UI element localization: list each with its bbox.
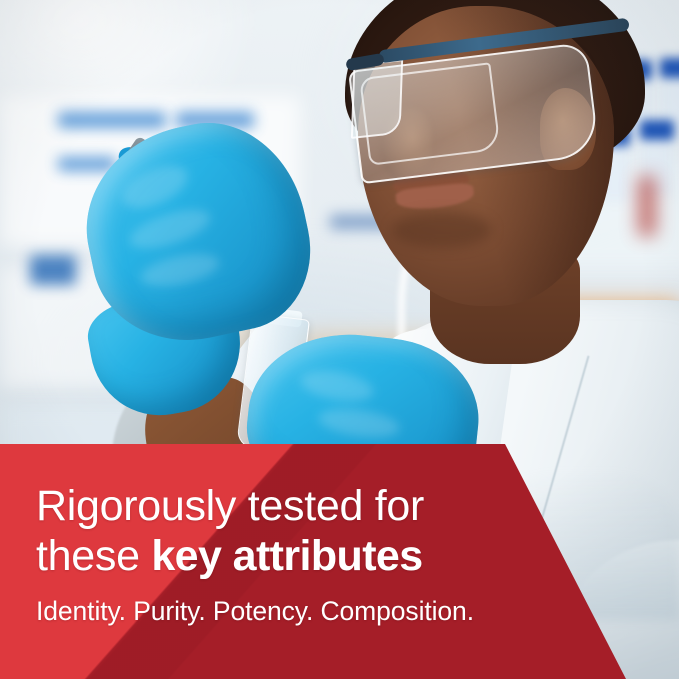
lab-background-detail (638, 176, 656, 236)
headline-line-1: Rigorously tested for (36, 481, 556, 531)
headline-line-2-regular: these (36, 532, 151, 580)
bottle-cap (640, 120, 674, 140)
bottle-cap (660, 58, 679, 78)
banner-text-block: Rigorously tested for these key attribut… (36, 481, 556, 627)
safety-goggles-side-shield (351, 59, 403, 139)
subheadline: Identity. Purity. Potency. Composition. (36, 595, 556, 627)
lab-label (58, 112, 166, 128)
headline-line-2: these key attributes (36, 531, 556, 581)
lab-container (30, 255, 76, 285)
chin-shading (392, 212, 492, 248)
headline-line-2-bold: key attributes (151, 532, 422, 580)
promo-image: Rigorously tested for these key attribut… (0, 0, 679, 679)
